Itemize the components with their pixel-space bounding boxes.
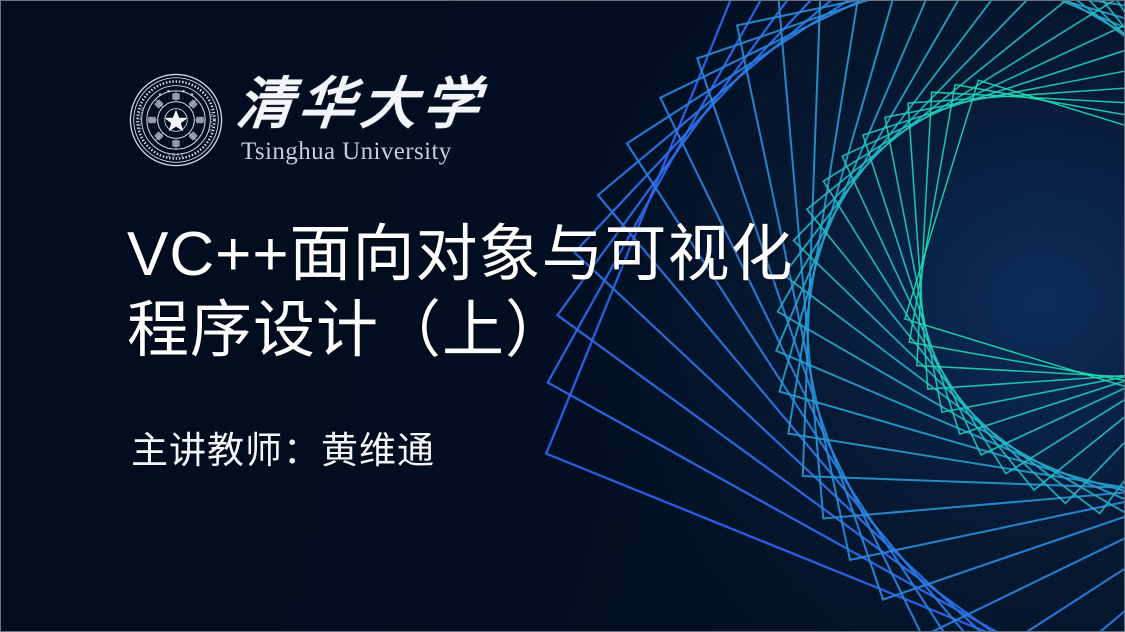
tsinghua-logo: 1911 TSINGHUA UNIVERSITY xyxy=(129,71,485,167)
presentation-slide: 1911 TSINGHUA UNIVERSITY xyxy=(0,0,1125,632)
tsinghua-seal-icon: 1911 TSINGHUA UNIVERSITY xyxy=(129,73,223,167)
svg-text:1911: 1911 xyxy=(167,152,184,159)
slide-title: VC++面向对象与可视化 程序设计（上） xyxy=(127,217,927,369)
slide-content: 1911 TSINGHUA UNIVERSITY xyxy=(1,1,701,632)
logo-english-name: Tsinghua University xyxy=(241,137,485,167)
presenter-line: 主讲教师：黄维通 xyxy=(131,425,435,477)
logo-wordmark: 清华大学 Tsinghua University xyxy=(237,71,485,167)
title-line-2: 程序设计（上） xyxy=(127,293,927,369)
title-line-1: VC++面向对象与可视化 xyxy=(127,217,927,293)
logo-chinese-name: 清华大学 xyxy=(234,75,488,135)
